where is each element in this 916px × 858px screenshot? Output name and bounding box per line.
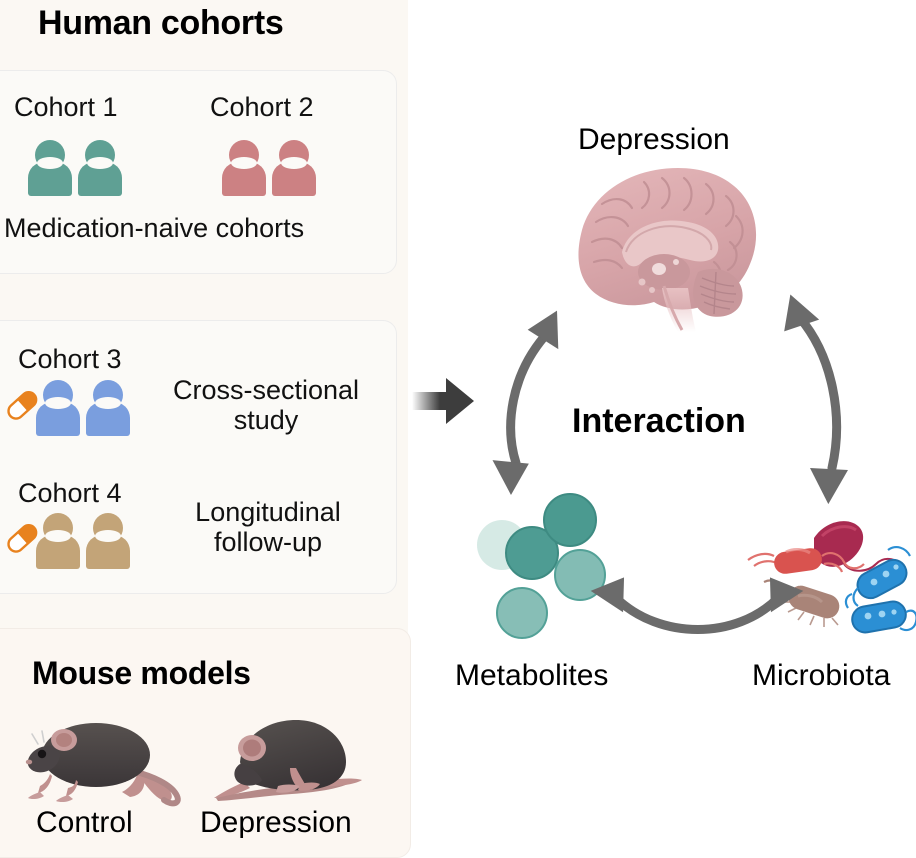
cohort-3-label: Cohort 3 — [18, 344, 122, 375]
cycle-arrow-brain-metabolites — [498, 295, 628, 510]
cohort-3-study-label: Cross-sectional study — [142, 375, 390, 435]
person-icon — [86, 380, 130, 436]
right-arrow-icon — [410, 372, 478, 430]
cohort-2-people-icon — [222, 140, 316, 196]
human-cohorts-title: Human cohorts — [38, 4, 283, 43]
person-icon — [86, 513, 130, 569]
metabolite-circle — [497, 588, 547, 638]
cohort-3-study-line1: Cross-sectional — [173, 375, 359, 405]
blue-rod-lower-bacterium — [846, 594, 916, 634]
cycle-arrow-brain-microbiota — [770, 292, 890, 512]
cohort-3-people-icon — [36, 380, 130, 436]
cohort-4-study-label: Longitudinal follow-up — [150, 497, 386, 557]
cohort-4-label: Cohort 4 — [18, 478, 122, 509]
person-icon — [78, 140, 122, 196]
cohort-3-study-line2: study — [234, 405, 299, 435]
cycle-arrow-metabolites-microbiota — [586, 578, 808, 664]
person-icon — [36, 380, 80, 436]
cohort-4-study-line2: follow-up — [214, 527, 322, 557]
mouse-models-title: Mouse models — [32, 655, 251, 692]
metabolites-node-label: Metabolites — [455, 659, 608, 693]
depression-node-label: Depression — [578, 123, 730, 157]
person-icon — [36, 513, 80, 569]
control-mouse-icon — [18, 700, 198, 810]
diagram-canvas: Human cohorts Cohort 1 Cohort 2 Medicati… — [0, 0, 916, 840]
cohort-1-people-icon — [28, 140, 122, 196]
person-icon — [222, 140, 266, 196]
microbiota-node-label: Microbiota — [752, 659, 890, 693]
depression-mouse-icon — [200, 702, 380, 810]
blue-rod-upper-bacterium — [853, 547, 911, 606]
person-icon — [272, 140, 316, 196]
cohort-1-label: Cohort 1 — [14, 92, 118, 123]
depression-mouse-label: Depression — [200, 806, 352, 840]
person-icon — [28, 140, 72, 196]
cohort-2-label: Cohort 2 — [210, 92, 314, 123]
control-mouse-label: Control — [36, 806, 133, 840]
medication-naive-caption: Medication-naive cohorts — [4, 213, 304, 244]
cohort-4-study-line1: Longitudinal — [195, 497, 341, 527]
cohort-4-people-icon — [36, 513, 130, 569]
